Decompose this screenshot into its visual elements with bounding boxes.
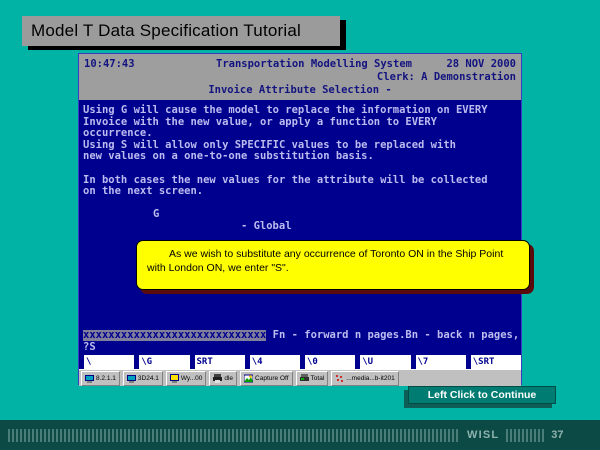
terminal-line: on the next screen. [83,186,517,198]
slide-footer: WISL 37 [0,420,600,450]
taskbar-button[interactable]: Total [296,371,329,386]
footer-label: WISL [467,429,499,441]
windows-taskbar: 8.2.1.1 3D24.1 Wy...00 dle Capture Off T… [79,369,521,386]
terminal-body: Using G will cause the model to replace … [79,100,521,330]
option-key-g: G [121,208,159,220]
terminal-system-name: Transportation Modelling System [216,58,412,70]
terminal-time: 10:47:43 [84,58,135,70]
terminal-line: Using G will cause the model to replace … [83,105,517,117]
taskbar-button[interactable]: 8.2.1.1 [81,371,120,386]
terminal-header: 10:47:43 Transportation Modelling System… [79,54,521,100]
monitor-icon [170,374,179,383]
terminal-line: new values on a one-to-one substitution … [83,151,517,163]
terminal-status-bar: xxxxxxxxxxxxxxxxxxxxxxxxxxxxx Fn - forwa… [79,330,521,355]
taskbar-button-label: dle [224,375,233,382]
terminal-status-help: Fn - forward n pages.Bn - back n pages, … [266,330,521,341]
function-key[interactable]: \7 [411,355,466,369]
function-key[interactable]: \U [355,355,410,369]
callout-text: As we wish to substitute any occurrence … [147,248,519,275]
function-key[interactable]: \SRT [466,355,521,369]
function-key[interactable]: \G [134,355,189,369]
footer-bars-right [506,429,544,442]
printer-icon [213,374,222,383]
taskbar-button[interactable]: dle [209,371,237,386]
media-icon [335,374,344,383]
terminal-status-masked: xxxxxxxxxxxxxxxxxxxxxxxxxxxxx [83,330,266,341]
computer-icon [127,374,136,383]
taskbar-button-label: Total [311,375,325,382]
taskbar-button-label: ...media...b-it201 [346,375,394,382]
taskbar-button-label: 8.2.1.1 [96,375,116,382]
taskbar-button[interactable]: Wy...00 [166,371,207,386]
function-key-bar: \ \G SRT \4 \0 \U \7 \SRT [79,355,521,369]
taskbar-button[interactable]: Capture Off [240,371,292,386]
continue-button-label: Left Click to Continue [428,389,537,401]
footer-bars-left [8,429,460,442]
taskbar-button-label: 3D24.1 [138,375,159,382]
terminal-window: 10:47:43 Transportation Modelling System… [78,53,522,385]
terminal-subtitle: Invoice Attribute Selection - [79,84,521,96]
function-key[interactable]: \0 [300,355,355,369]
function-key[interactable]: SRT [190,355,245,369]
terminal-blank-line [83,163,517,175]
taskbar-button-label: Capture Off [255,375,288,382]
callout-box: As we wish to substitute any occurrence … [136,240,530,290]
terminal-date: 28 NOV 2000 [446,58,516,70]
computer-icon [85,374,94,383]
fax-icon [300,374,309,383]
terminal-option-global: G - Global [83,198,517,244]
option-label-global: - Global [121,220,292,232]
slide-title-box: Model T Data Specification Tutorial [22,16,340,46]
taskbar-button[interactable]: 3D24.1 [123,371,163,386]
page-title: Model T Data Specification Tutorial [31,21,301,41]
taskbar-button-label: Wy...00 [181,375,203,382]
terminal-clerk: Clerk: A Demonstration [377,71,516,83]
left-click-to-continue-button[interactable]: Left Click to Continue [408,386,556,404]
footer-page-number: 37 [551,429,563,441]
terminal-status-continued: ?S [83,341,96,353]
function-key[interactable]: \ [79,355,134,369]
function-key[interactable]: \4 [245,355,300,369]
taskbar-button[interactable]: ...media...b-it201 [331,371,398,386]
capture-icon [244,374,253,383]
